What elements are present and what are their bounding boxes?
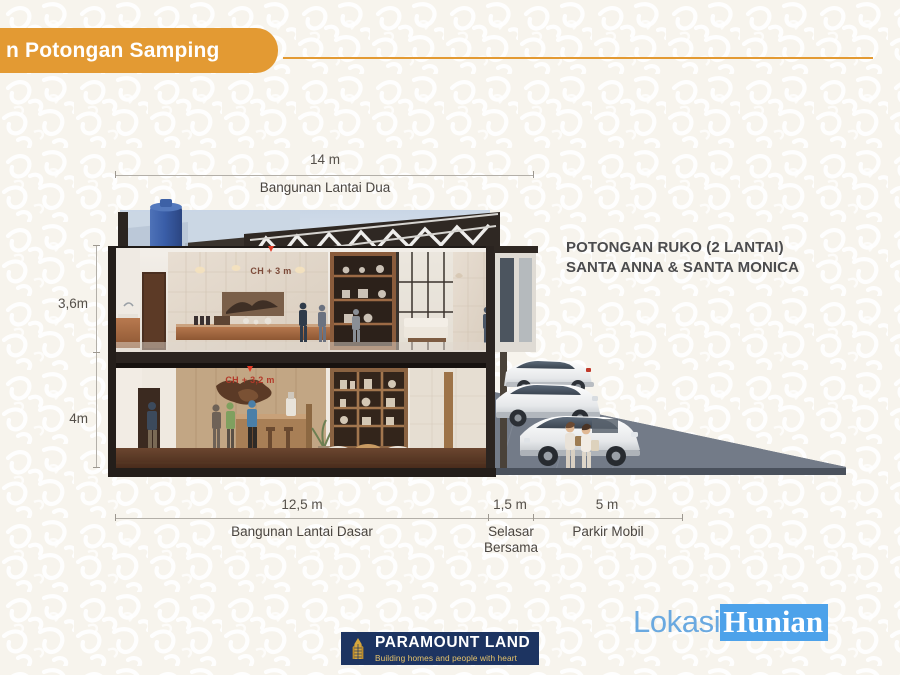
vertical-dimension-line <box>96 245 97 468</box>
top-dimension-tick-right <box>533 171 534 178</box>
top-dimension-line <box>115 175 533 176</box>
bottom-dimension-value-1: 12,5 m <box>232 497 372 512</box>
slide-title: n Potongan Samping <box>6 39 220 63</box>
logo-brand-name: PARAMOUNT LAND <box>375 635 530 651</box>
slide-title-banner: n Potongan Samping <box>0 28 278 73</box>
ceiling-height-label-ground: CH + 3,2 m <box>210 375 290 385</box>
section-caption: POTONGAN RUKO (2 LANTAI) SANTA ANNA & SA… <box>566 238 799 279</box>
bottom-dimension-caption-2: Selasar Bersama <box>466 524 556 557</box>
water-tank <box>150 199 182 250</box>
bottom-caption-2-line-1: Selasar <box>466 524 556 540</box>
building-section-illustration <box>0 0 900 675</box>
building-tower-icon <box>348 637 368 661</box>
bottom-tick-2 <box>533 514 534 521</box>
top-dimension-caption: Bangunan Lantai Dua <box>225 180 425 196</box>
logo-tagline: Building homes and people with heart <box>375 654 530 662</box>
title-divider-rule <box>283 57 873 59</box>
watermark-hunian: Hunian <box>720 604 828 641</box>
bottom-caption-2-line-2: Bersama <box>466 540 556 556</box>
vertical-tick-bottom <box>93 467 100 468</box>
lokasihunian-watermark: Lokasi Hunian <box>633 604 828 641</box>
top-dimension-tick-left <box>115 171 116 178</box>
section-caption-line-1: POTONGAN RUKO (2 LANTAI) <box>566 238 799 258</box>
bottom-tick-1 <box>488 514 489 521</box>
vertical-dimension-value-lower: 4m <box>34 411 88 426</box>
bottom-dimension-caption-3: Parkir Mobil <box>548 524 668 540</box>
bottom-dimension-value-3: 5 m <box>567 497 647 512</box>
top-dimension-value: 14 m <box>255 152 395 167</box>
bottom-dimension-line <box>115 518 682 519</box>
section-caption-line-2: SANTA ANNA & SANTA MONICA <box>566 258 799 278</box>
vertical-dimension-value-upper: 3,6m <box>34 296 88 311</box>
vertical-tick-middle <box>93 352 100 353</box>
ceiling-height-label-upper: CH + 3 m <box>231 266 311 276</box>
bottom-tick-right <box>682 514 683 521</box>
bottom-dimension-value-2: 1,5 m <box>472 497 548 512</box>
bottom-tick-left <box>115 514 116 521</box>
paramount-land-logo: PARAMOUNT LAND Building homes and people… <box>341 632 539 665</box>
bottom-dimension-caption-1: Bangunan Lantai Dasar <box>212 524 392 540</box>
watermark-lokasi: Lokasi <box>633 606 720 637</box>
vertical-tick-top <box>93 245 100 246</box>
